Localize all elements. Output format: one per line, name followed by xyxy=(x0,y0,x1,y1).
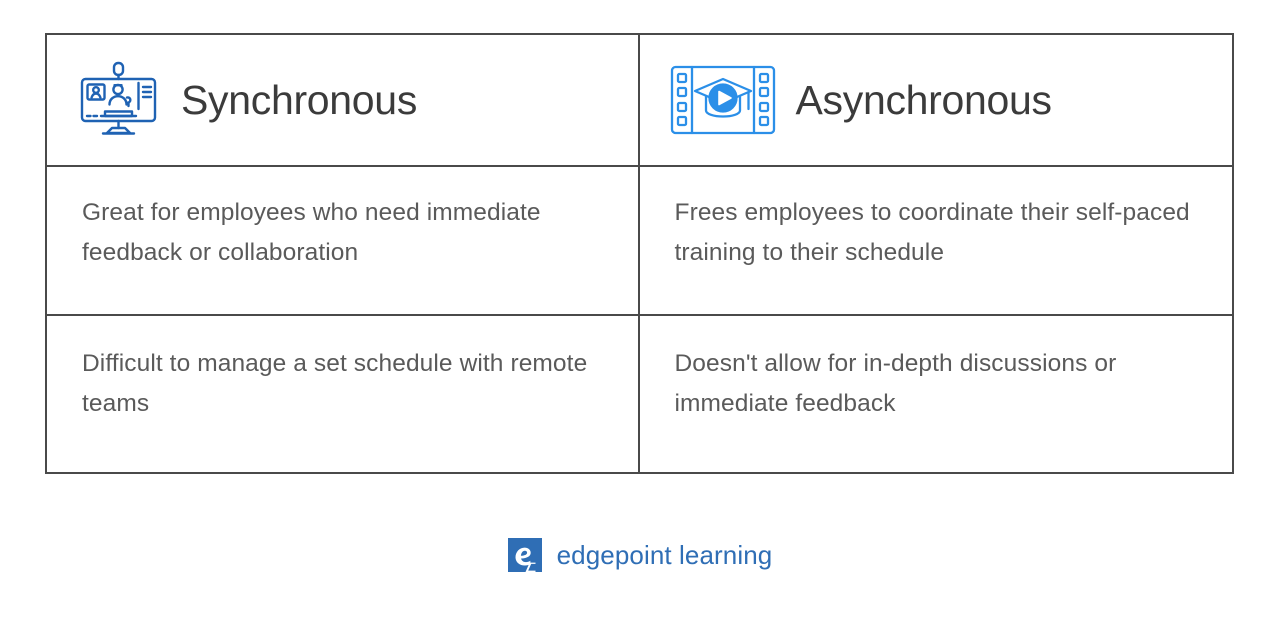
header-cell-synchronous: Synchronous xyxy=(47,35,640,165)
header-cell-asynchronous: Asynchronous xyxy=(640,35,1233,165)
slide-canvas: Synchronous xyxy=(0,0,1280,627)
video-conference-monitor-icon xyxy=(77,61,161,139)
cell-text: Doesn't allow for in-depth discussions o… xyxy=(675,344,1203,423)
brand-name: edgepoint learning xyxy=(557,542,773,568)
cell-text: Frees employees to coordinate their self… xyxy=(675,193,1203,272)
film-strip-graduation-play-icon xyxy=(670,65,776,135)
cell-synchronous-drawback: Difficult to manage a set schedule with … xyxy=(47,316,640,472)
edgepoint-e-logo-icon xyxy=(508,538,542,572)
table-row: Difficult to manage a set schedule with … xyxy=(47,316,1232,472)
cell-asynchronous-benefit: Frees employees to coordinate their self… xyxy=(640,167,1233,314)
table-row: Great for employees who need immediate f… xyxy=(47,167,1232,316)
cell-text: Great for employees who need immediate f… xyxy=(82,193,608,272)
brand-footer: edgepoint learning xyxy=(0,538,1280,572)
comparison-table: Synchronous xyxy=(45,33,1234,474)
table-header-row: Synchronous xyxy=(47,35,1232,167)
column-title-asynchronous: Asynchronous xyxy=(796,80,1052,121)
cell-synchronous-benefit: Great for employees who need immediate f… xyxy=(47,167,640,314)
cell-text: Difficult to manage a set schedule with … xyxy=(82,344,608,423)
cell-asynchronous-drawback: Doesn't allow for in-depth discussions o… xyxy=(640,316,1233,472)
column-title-synchronous: Synchronous xyxy=(181,80,417,121)
